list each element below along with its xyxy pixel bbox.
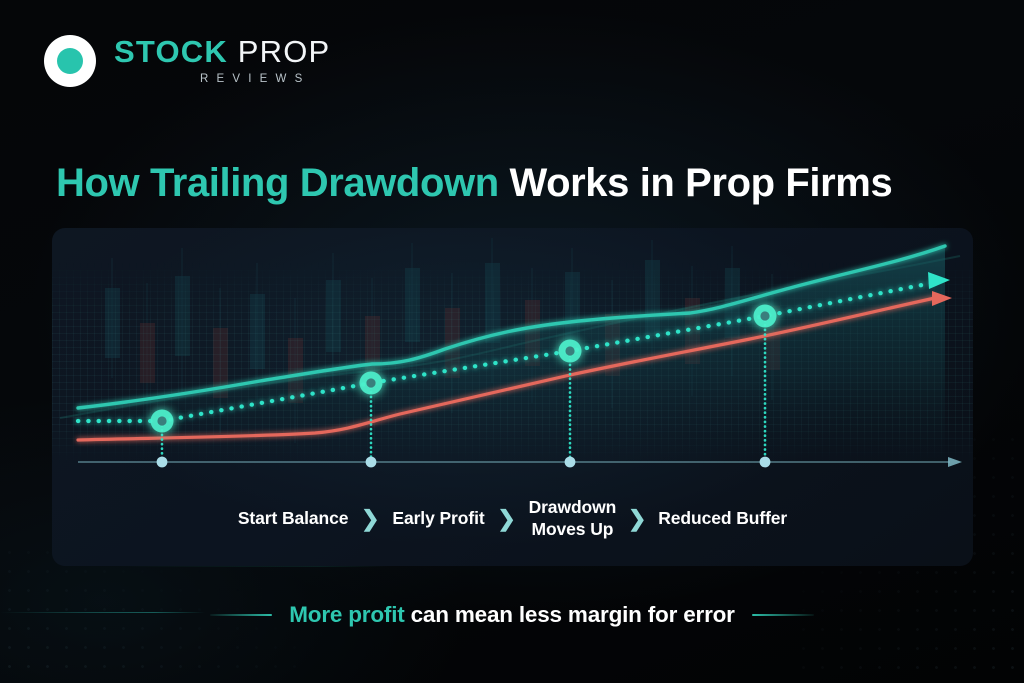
step-label-reduced-buffer[interactable]: Reduced Buffer <box>658 508 787 530</box>
brand-name-part2: PROP <box>238 34 331 69</box>
step-label-start-balance[interactable]: Start Balance <box>238 508 349 530</box>
footer-text: More profit can mean less margin for err… <box>289 602 735 628</box>
step-label-early-profit[interactable]: Early Profit <box>392 508 484 530</box>
equity-area-fill <box>78 246 945 462</box>
footer-text-plain: can mean less margin for error <box>411 602 735 627</box>
footer-text-accent: More profit <box>289 602 404 627</box>
page-title-plain: Works in Prop Firms <box>509 161 892 205</box>
poster-canvas: STOCK PROP REVIEWS How Trailing Drawdown… <box>0 0 1024 683</box>
brand-wordmark: STOCK PROP REVIEWS <box>114 32 330 85</box>
footer-tagline: More profit can mean less margin for err… <box>0 596 1024 634</box>
brand-tagline: REVIEWS <box>200 73 330 85</box>
x-axis-arrow-icon <box>948 457 962 467</box>
axis-dot <box>366 457 377 468</box>
milestone-marker-core <box>760 311 769 320</box>
circle-mark-icon <box>44 35 96 87</box>
circle-mark-inner-icon <box>57 48 83 74</box>
milestone-marker-core <box>157 416 166 425</box>
brand-logo[interactable]: STOCK PROP REVIEWS <box>44 32 330 87</box>
milestone-marker-core <box>565 346 574 355</box>
chevron-right-icon: ❯ <box>485 508 529 530</box>
axis-dot <box>760 457 771 468</box>
background-streak-line-secondary <box>118 566 388 567</box>
page-title-accent: How Trailing Drawdown <box>56 161 499 205</box>
step-sequence: Start Balance ❯ Early Profit ❯ Drawdown … <box>52 488 973 550</box>
chevron-right-icon: ❯ <box>348 508 392 530</box>
brand-name-part1: STOCK <box>114 34 228 69</box>
milestone-marker-core <box>366 378 375 387</box>
axis-dot <box>157 457 168 468</box>
page-title: How Trailing Drawdown Works in Prop Firm… <box>56 160 996 206</box>
chevron-right-icon: ❯ <box>616 508 658 530</box>
axis-dot <box>565 457 576 468</box>
divider-line-right-icon <box>752 614 814 616</box>
step-label-drawdown-moves-up[interactable]: Drawdown Moves Up <box>529 497 617 541</box>
divider-line-left-icon <box>210 614 272 616</box>
